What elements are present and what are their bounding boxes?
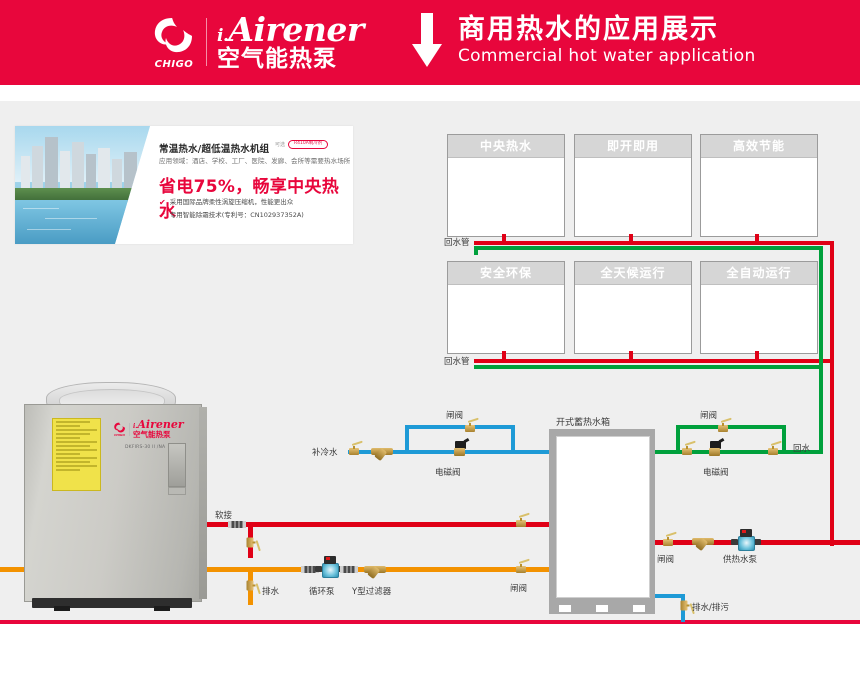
- promo-bullet-text: 采用国际品牌柔性涡旋压缩机，性能更出众: [170, 199, 294, 206]
- promo-subtitle: 应用领域：酒店、学校、工厂、医院、发廊、会所等需要热水场所: [159, 155, 350, 165]
- photo-building: [45, 137, 58, 190]
- feature-box-central-hot-water: 中央热水: [447, 134, 565, 237]
- valve-stem: [722, 423, 724, 426]
- heat-pump-foot: [54, 606, 70, 611]
- warning-label: [52, 418, 101, 491]
- promo-bullet: ✔ 专用智能除霜技术(专利号：CN102937352A): [159, 212, 304, 220]
- label-solenoid-valve-left: 电磁阀: [435, 466, 461, 478]
- flexible-joint-pump-out-icon: [340, 566, 358, 573]
- flex-end: [243, 521, 246, 528]
- heat-pump-brand-en: i.Airener: [133, 419, 184, 430]
- label-gate-valve-mid: 闸阀: [510, 582, 527, 594]
- feature-box-high-efficiency: 高效节能: [700, 134, 818, 237]
- pipe-red-manifold-top: [474, 241, 834, 245]
- warning-line: [56, 469, 80, 471]
- photo-building: [112, 159, 122, 190]
- gate-valve-tank-supply-icon: [514, 518, 528, 527]
- pump-flange: [315, 566, 322, 572]
- photo-building: [124, 152, 137, 190]
- pipe-green-riser-right: [819, 246, 823, 448]
- heat-pump-brand-text: i.Airener 空气能热泵: [133, 419, 184, 439]
- chigo-wordmark-small: CHIGO: [113, 433, 126, 437]
- page-footer-space: [0, 624, 860, 680]
- valve-stem: [353, 446, 355, 449]
- gate-valve-drain-tank-icon: [514, 564, 528, 573]
- label-y-filter: Y型过滤器: [352, 585, 391, 597]
- heat-pump-control-panel[interactable]: [168, 443, 186, 487]
- y-filter-circuit-icon: [364, 562, 386, 577]
- feature-box-allweather: 全天候运行: [574, 261, 692, 354]
- gate-valve-return-1-icon: [680, 446, 694, 455]
- logo-divider: [206, 18, 207, 66]
- brand-text: i.Airener 空气能热泵: [217, 13, 364, 71]
- photo-building: [60, 151, 70, 190]
- gate-valve-bypass-icon: [463, 423, 477, 432]
- flex-end: [301, 566, 304, 573]
- valve-stem: [469, 423, 471, 426]
- gate-valve-drain-icon: [247, 579, 256, 593]
- label-gate-valve-tank-right: 闸阀: [657, 553, 674, 565]
- pump-led: [742, 530, 746, 533]
- label-flexible-joint: 软接: [215, 509, 232, 521]
- valve-body: [682, 448, 692, 455]
- label-tank: 开式蓄热水箱: [556, 415, 610, 428]
- pipe-blue-bypass-right: [511, 425, 515, 450]
- y-filter-cold-inlet-icon: [371, 444, 393, 459]
- photo-building: [98, 148, 110, 190]
- heat-pump-brand-cn: 空气能热泵: [133, 431, 184, 439]
- gate-valve-sewage-icon: [681, 599, 690, 613]
- pump-flange: [754, 539, 761, 545]
- pump-body: [738, 536, 755, 551]
- warning-line: [56, 429, 97, 431]
- arrow-stem: [421, 13, 433, 47]
- hot-water-supply-pump-icon: [731, 534, 761, 550]
- heat-pump-cabinet: CHIGO i.Airener 空气能热泵 DKFIRS-30 II /NA: [24, 404, 202, 602]
- check-icon: ✔: [159, 199, 166, 207]
- feature-box-title: 高效节能: [701, 135, 817, 158]
- promo-tag: R410A制冷剂: [288, 140, 328, 149]
- promo-photo: [15, 126, 150, 244]
- pipe-red-supply-left: [204, 522, 549, 527]
- feature-box-title: 即开即用: [575, 135, 691, 158]
- pipe-red-manifold-bottom: [474, 359, 834, 363]
- storage-tank: [549, 429, 655, 614]
- warning-line: [56, 445, 90, 447]
- flexible-joint-icon: [228, 521, 246, 528]
- warning-line: [56, 421, 90, 423]
- photo-building: [21, 156, 30, 190]
- logo-divider-small: [129, 423, 130, 436]
- heat-pump-brand-logo: CHIGO i.Airener 空气能热泵: [113, 419, 184, 439]
- tank-leg: [594, 603, 610, 614]
- label-drain-sewage: 排水/排污: [692, 601, 729, 613]
- warning-line: [56, 433, 90, 435]
- warning-line: [56, 449, 97, 451]
- gate-valve-right-supply-icon: [661, 537, 675, 546]
- promo-tag-group: 可选 R410A制冷剂: [275, 140, 328, 149]
- chigo-wordmark: CHIGO: [148, 59, 200, 70]
- valve-stem: [520, 518, 522, 521]
- chigo-logo-mark-small: CHIGO: [113, 422, 126, 437]
- warning-line: [56, 425, 80, 427]
- tank-leg: [557, 603, 573, 614]
- label-gate-valve-left: 闸阀: [446, 409, 463, 421]
- y-filter-supply-icon: [692, 534, 714, 549]
- warning-line: [56, 461, 90, 463]
- valve-body: [465, 425, 475, 432]
- tank-leg: [631, 603, 647, 614]
- heat-pump-model-number: DKFIRS-30 II /NA: [125, 445, 165, 450]
- heat-pump-unit: CHIGO i.Airener 空气能热泵 DKFIRS-30 II /NA: [18, 382, 206, 622]
- heat-pump-foot: [154, 606, 170, 611]
- arrow-head: [412, 44, 442, 67]
- warning-line: [56, 441, 97, 443]
- header-title-en: Commercial hot water application: [458, 46, 756, 67]
- feature-box-safe-eco: 安全环保: [447, 261, 565, 354]
- promo-body: 常温热水/超低温热水机组 可选 R410A制冷剂 应用领域：酒店、学校、工厂、医…: [146, 126, 353, 244]
- label-solenoid-valve-right: 电磁阀: [703, 466, 729, 478]
- promo-bullets: ✔ 采用国际品牌柔性涡旋压缩机，性能更出众 ✔ 专用智能除霜技术(专利号：CN1…: [159, 199, 304, 225]
- valve-stem: [772, 446, 774, 449]
- header-titles: 商用热水的应用展示 Commercial hot water applicati…: [458, 15, 756, 68]
- flex-end: [355, 566, 358, 573]
- brand-name-main: Airener: [228, 10, 363, 49]
- chigo-swirl-icon: [152, 16, 194, 54]
- brand-prefix: i.: [217, 26, 228, 46]
- label-drain: 排水: [262, 585, 279, 597]
- valve-stem: [686, 446, 688, 449]
- warning-line: [56, 453, 80, 455]
- heat-pump-panel-label: [168, 487, 186, 495]
- solenoid-body: [709, 448, 720, 456]
- valve-body: [663, 539, 673, 546]
- valve-body: [516, 566, 526, 573]
- promo-bullet-text: 专用智能除霜技术(专利号：CN102937352A): [170, 212, 304, 219]
- pipe-blue-bypass-top: [405, 425, 515, 429]
- solenoid-valve-left-icon: [452, 444, 468, 460]
- photo-ripple: [23, 208, 59, 209]
- feature-box-title: 安全环保: [448, 262, 564, 285]
- warning-line: [56, 437, 80, 439]
- photo-building: [72, 142, 84, 190]
- gate-valve-return-bypass-icon: [716, 423, 730, 432]
- valve-stem: [520, 564, 522, 567]
- valve-body: [768, 448, 778, 455]
- label-hot-water-supply-pump: 供热水泵: [723, 553, 757, 565]
- page-root: CHIGO i.Airener 空气能热泵 商用热水的应用展示 Commerci…: [0, 0, 860, 680]
- valve-stem: [667, 537, 669, 540]
- brand-logo: CHIGO i.Airener 空气能热泵: [148, 12, 364, 72]
- chigo-swirl-icon: [113, 422, 126, 433]
- promo-banner: 常温热水/超低温热水机组 可选 R410A制冷剂 应用领域：酒店、学校、工厂、医…: [15, 126, 353, 244]
- photo-building: [86, 154, 96, 190]
- check-icon: ✔: [159, 212, 166, 220]
- pipe-green-joint: [474, 250, 478, 254]
- pump-flange: [731, 539, 738, 545]
- pipe-green-riser-joint: [819, 444, 823, 454]
- valve-body: [718, 425, 728, 432]
- promo-bullet: ✔ 采用国际品牌柔性涡旋压缩机，性能更出众: [159, 199, 304, 207]
- feature-box-title: 全自动运行: [701, 262, 817, 285]
- label-circulation-pump: 循环泵: [309, 585, 335, 597]
- gate-valve-red-drop-icon: [247, 536, 256, 550]
- photo-ripple: [45, 218, 97, 219]
- chigo-logo-mark: CHIGO: [148, 14, 200, 70]
- brand-name-cn: 空气能热泵: [217, 47, 364, 71]
- warning-line: [56, 457, 97, 459]
- pump-motor: [740, 529, 752, 537]
- page-header: CHIGO i.Airener 空气能热泵 商用热水的应用展示 Commerci…: [0, 0, 860, 85]
- label-return-water: 回水: [793, 442, 810, 454]
- valve-body: [516, 520, 526, 527]
- pump-led: [326, 557, 330, 560]
- solenoid-valve-right-icon: [707, 444, 723, 460]
- pipe-green-bypass-top: [676, 425, 786, 429]
- pipe-green-manifold-top: [474, 246, 823, 250]
- flex-end: [228, 521, 231, 528]
- header-title-cn: 商用热水的应用展示: [458, 15, 756, 45]
- feature-box-fully-automatic: 全自动运行: [700, 261, 818, 354]
- valve-body: [349, 448, 359, 455]
- pipe-green-bypass-right: [782, 425, 786, 450]
- header-title-group: 商用热水的应用展示 Commercial hot water applicati…: [410, 13, 756, 69]
- arrow-down-icon: [410, 13, 444, 69]
- heat-pump-side-panel: [199, 407, 207, 599]
- feature-box-title: 中央热水: [448, 135, 564, 158]
- solenoid-body: [454, 448, 465, 456]
- feature-box-instant-use: 即开即用: [574, 134, 692, 237]
- gate-valve-return-2-icon: [766, 446, 780, 455]
- photo-building: [32, 146, 43, 190]
- brand-name-en: i.Airener: [217, 13, 364, 46]
- pump-body: [322, 563, 339, 578]
- pipe-red-riser-right: [830, 241, 834, 546]
- photo-ripple: [27, 229, 71, 230]
- photo-water: [15, 200, 150, 244]
- flex-end: [340, 566, 343, 573]
- label-cold-water-makeup: 补冷水: [312, 446, 338, 458]
- promo-title: 常温热水/超低温热水机组: [159, 141, 269, 155]
- pump-motor: [324, 556, 336, 564]
- feature-box-title: 全天候运行: [575, 262, 691, 285]
- gate-valve-cold-1-icon: [347, 446, 361, 455]
- label-return-pipe-bottom: 回水管: [444, 355, 470, 367]
- warning-line: [56, 465, 97, 467]
- pipe-green-manifold-bottom: [474, 365, 823, 369]
- tank-inner: [556, 436, 650, 598]
- label-return-pipe-top: 回水管: [444, 236, 470, 248]
- promo-tag-label: 可选: [275, 141, 285, 148]
- label-gate-valve-right: 闸阀: [700, 409, 717, 421]
